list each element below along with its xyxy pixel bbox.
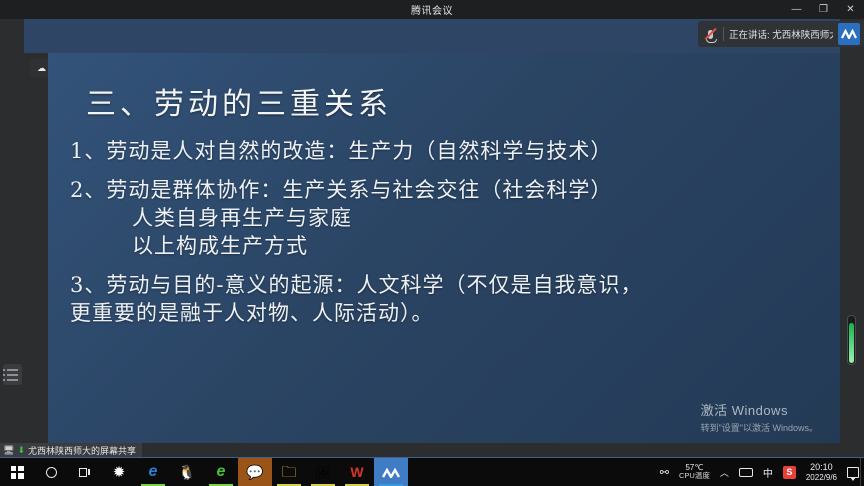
people-nearby-icon[interactable]: ⚯ (655, 458, 674, 486)
window-title: 腾讯会议 (411, 2, 453, 17)
app-360-browser[interactable]: e (204, 458, 238, 486)
keyboard-icon[interactable] (734, 458, 758, 486)
screen-share-label: 尤西林陕西师大的屏幕共享 (28, 444, 136, 457)
app-qq-penguin[interactable]: 🐧 (170, 458, 204, 486)
screen-share-chip[interactable]: 🖥 ⬇ 尤西林陕西师大的屏幕共享 (0, 443, 142, 458)
slide-line-3: 人类自身再生产与家庭 (70, 208, 830, 229)
cortana-search-icon[interactable] (34, 458, 68, 486)
clock-date: 2022/9/6 (806, 473, 837, 483)
show-desktop-button[interactable] (860, 458, 864, 486)
window-title-bar: 腾讯会议 — ❐ ✕ (0, 0, 864, 19)
screen-share-icon: 🖥 (3, 446, 14, 455)
volume-level-indicator (847, 315, 856, 365)
screen-share-statusbar: 🖥 ⬇ 尤西林陕西师大的屏幕共享 (0, 443, 864, 458)
close-button[interactable]: ✕ (837, 0, 864, 19)
windows-start-icon[interactable] (0, 458, 34, 486)
slide-line-1: 1、劳动是人对自然的改造：生产力（自然科学与技术） (70, 141, 830, 162)
window-controls: — ❐ ✕ (783, 0, 864, 19)
badge-divider (723, 27, 724, 41)
sogou-label: S (783, 466, 796, 479)
slide-line-6: 更重要的是融于人对物、人际活动）。 (70, 303, 830, 324)
task-view-icon[interactable] (68, 458, 102, 486)
left-rail (0, 19, 24, 443)
system-tray: ⚯ 57℃ CPU温度 ︿ 中 S 20:10 2022/9/6 (655, 458, 864, 486)
app-photos[interactable]: 🖼 (306, 458, 340, 486)
shared-slide: 三、劳动的三重关系 1、劳动是人对自然的改造：生产力（自然科学与技术） 2、劳动… (48, 53, 840, 462)
speaking-badge[interactable]: 正在讲话: 尤西林陕西师大 (698, 21, 864, 47)
app-tencent-meeting[interactable] (374, 458, 408, 486)
cpu-temp-widget[interactable]: 57℃ CPU温度 (674, 458, 715, 486)
clock-widget[interactable]: 20:10 2022/9/6 (801, 458, 842, 486)
app-wechat[interactable]: 💬 (238, 458, 272, 486)
windows-taskbar: ✹ e 🐧 e 💬 🗀 🖼 W (0, 458, 864, 486)
ime-mode-indicator[interactable]: 中 (758, 458, 778, 486)
minimize-button[interactable]: — (783, 0, 810, 19)
ime-label: 中 (763, 465, 773, 480)
clock-time: 20:10 (810, 462, 833, 473)
chevron-up-icon[interactable]: ︿ (715, 458, 734, 486)
right-rail (840, 19, 864, 443)
slide-line-5: 3、劳动与目的-意义的起源：人文科学（不仅是自我意识， (70, 275, 830, 296)
activation-subtitle: 转到"设置"以激活 Windows。 (701, 421, 818, 434)
cloud-icon: ☁ (37, 64, 46, 73)
tencent-meeting-glyph (382, 467, 400, 478)
cpu-temp-label: CPU温度 (679, 472, 710, 481)
windows-activation-watermark: 激活 Windows 转到"设置"以激活 Windows。 (701, 400, 818, 434)
meeting-window: 正在讲话: 尤西林陕西师大 ☁ 录制中 三、劳动的三重关系 1、劳动是人对自然的… (0, 19, 864, 443)
mic-muted-icon (702, 26, 718, 42)
sogou-ime-icon[interactable]: S (778, 458, 801, 486)
slide-line-4: 以上构成生产方式 (70, 236, 830, 257)
screen: 腾讯会议 — ❐ ✕ 正在讲话: 尤西林陕西师大 (0, 0, 864, 486)
activation-title: 激活 Windows (701, 400, 818, 419)
download-icon: ⬇ (17, 446, 25, 455)
maximize-button[interactable]: ❐ (810, 0, 837, 19)
list-menu-icon[interactable] (3, 364, 22, 385)
app-microsoft-edge[interactable]: e (136, 458, 170, 486)
slide-line-2: 2、劳动是群体协作：生产关系与社会交往（社会科学） (70, 180, 830, 201)
speaking-label: 正在讲话: 尤西林陕西师大 (729, 27, 833, 41)
slide-body: 1、劳动是人对自然的改造：生产力（自然科学与技术） 2、劳动是群体协作：生产关系… (70, 141, 830, 342)
speaker-avatar (838, 23, 860, 45)
app-sogou-pinyin[interactable]: ✹ (102, 458, 136, 486)
slide-title: 三、劳动的三重关系 (86, 79, 392, 123)
app-file-explorer[interactable]: 🗀 (272, 458, 306, 486)
app-wps-office[interactable]: W (340, 458, 374, 486)
